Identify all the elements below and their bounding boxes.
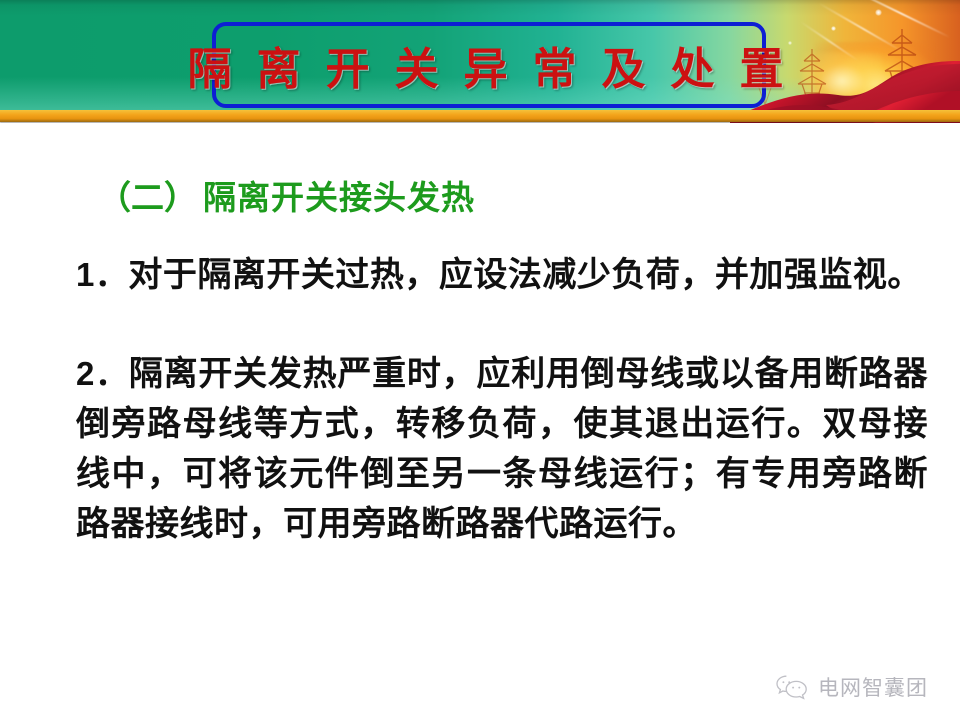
- body-paragraph-2: 2．隔离开关发热严重时，应利用倒母线或以备用断路器倒旁路母线等方式，转移负荷，使…: [76, 349, 928, 550]
- section-heading-label: 隔离开关接头发热: [203, 181, 475, 217]
- section-heading: （二）隔离开关接头发热: [98, 171, 475, 219]
- watermark: 电网智囊团: [775, 672, 928, 702]
- body-paragraph-1: 1．对于隔离开关过热，应设法减少负荷，并加强监视。: [76, 250, 928, 301]
- slide-title-box: 隔 离 开 关 异 常 及 处 置: [212, 22, 766, 108]
- slide-content: （二）隔离开关接头发热 1．对于隔离开关过热，应设法减少负荷，并加强监视。 2．…: [0, 123, 960, 720]
- slide-title: 隔 离 开 关 异 常 及 处 置: [188, 33, 791, 97]
- header-divider-bar: [0, 110, 960, 122]
- wechat-icon: [775, 674, 809, 700]
- paragraph-number: 2．: [76, 355, 129, 392]
- paragraph-number: 1．: [76, 256, 128, 293]
- sparkle-icon: [831, 26, 836, 31]
- watermark-label: 电网智囊团: [818, 672, 928, 702]
- paragraph-text: 对于隔离开关过热，应设法减少负荷，并加强监视。: [128, 257, 922, 294]
- header-banner: 隔 离 开 关 异 常 及 处 置: [0, 0, 960, 123]
- slide-root: 隔 离 开 关 异 常 及 处 置 （二）隔离开关接头发热 1．对于隔离开关过热…: [0, 0, 960, 720]
- sparkle-icon: [875, 9, 882, 16]
- paragraph-text: 隔离开关发热严重时，应利用倒母线或以备用断路器倒旁路母线等方式，转移负荷，使其退…: [76, 356, 928, 543]
- section-heading-number: （二）: [98, 181, 197, 217]
